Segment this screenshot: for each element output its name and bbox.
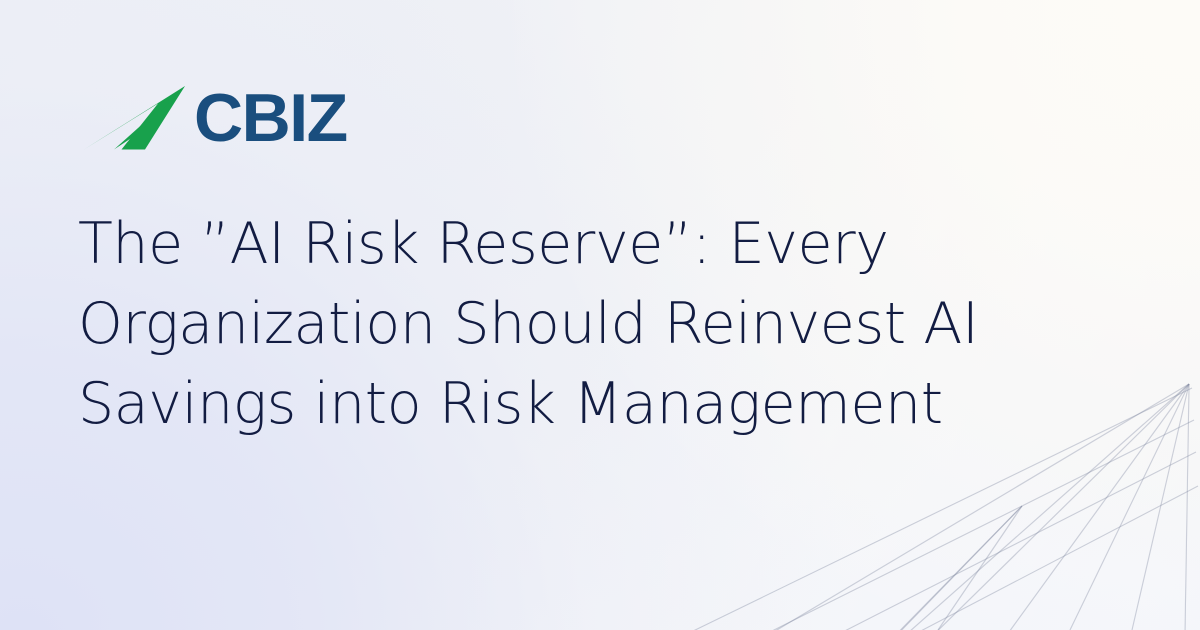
cbiz-wordmark: CBIZ xyxy=(194,84,347,152)
page-title: The ”AI Risk Reserve”: Every Organizatio… xyxy=(78,204,1088,444)
cbiz-logo[interactable]: CBIZ xyxy=(84,84,347,156)
social-share-card: CBIZ The ”AI Risk Reserve”: Every Organi… xyxy=(0,0,1200,630)
page-title-line-3: Savings into Risk Management xyxy=(78,364,1088,444)
page-title-line-1: The ”AI Risk Reserve”: Every xyxy=(78,204,1088,284)
page-title-line-2: Organization Should Reinvest AI xyxy=(78,284,1088,364)
cbiz-arrow-swoosh-icon xyxy=(84,86,192,154)
